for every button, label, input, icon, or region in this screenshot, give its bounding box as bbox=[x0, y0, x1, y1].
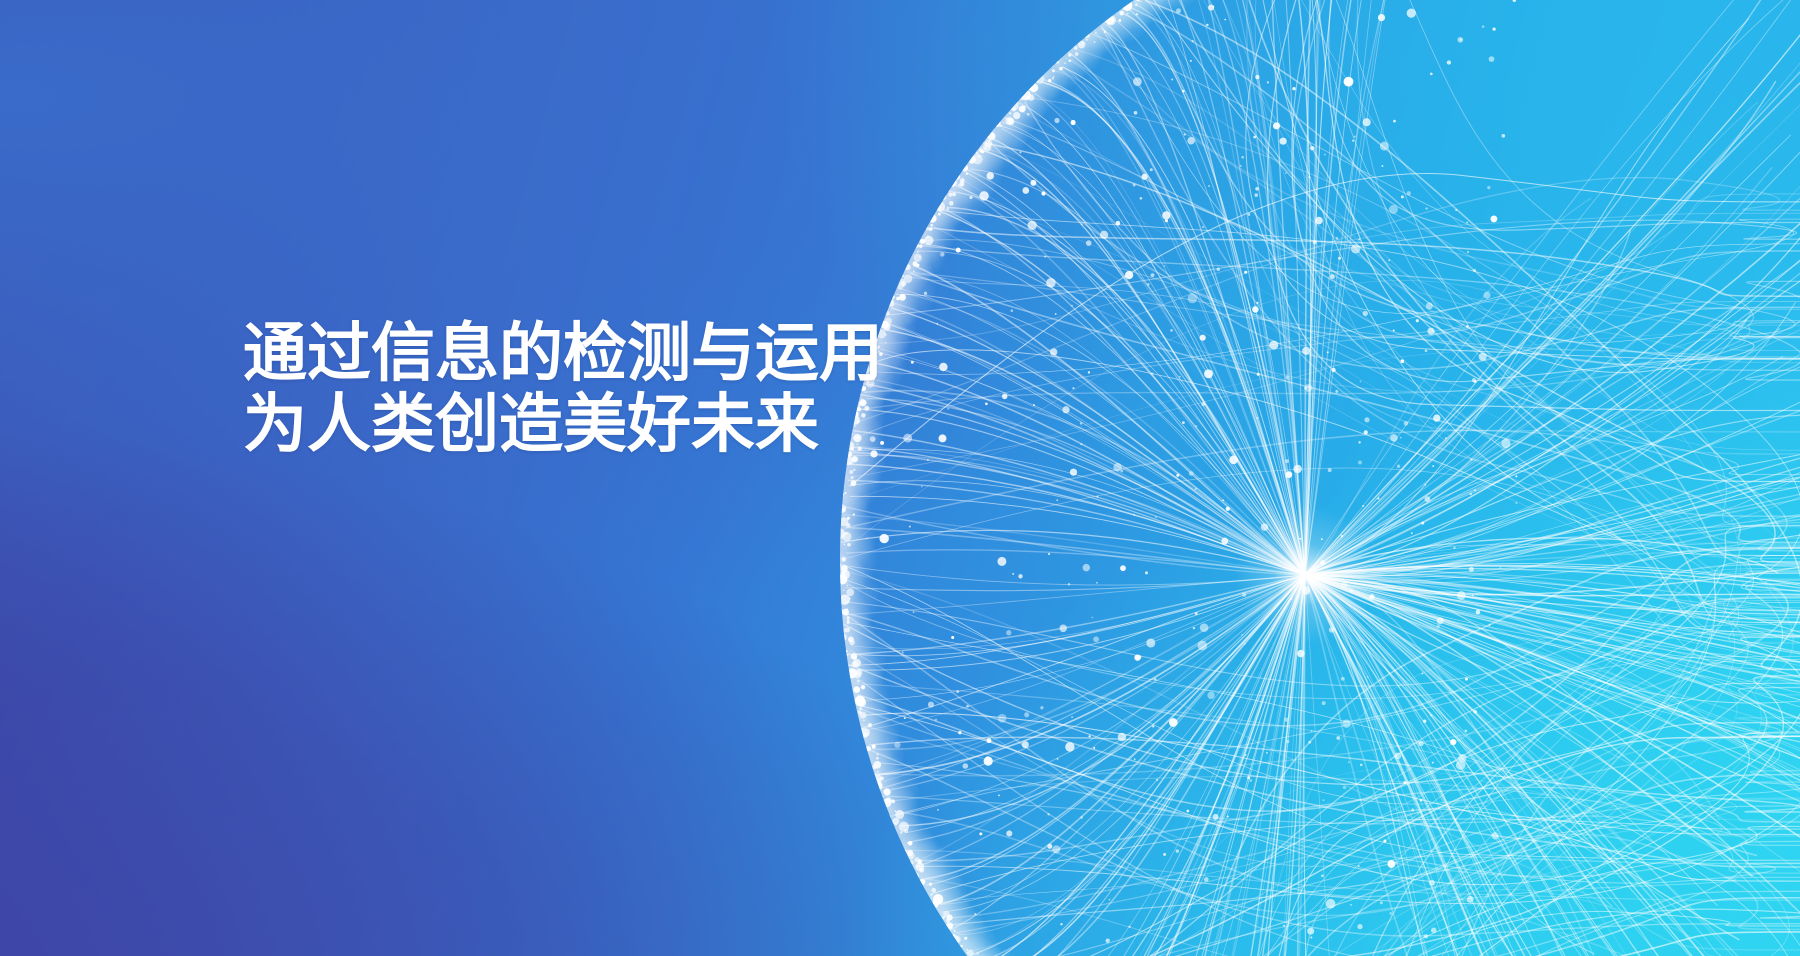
headline-line-2: 为人类创造美好未来 bbox=[243, 389, 883, 460]
background-wash-bottom-right bbox=[0, 0, 1800, 956]
headline-line-1: 通过信息的检测与运用 bbox=[243, 318, 883, 389]
hero-banner: 通过信息的检测与运用 为人类创造美好未来 bbox=[0, 0, 1800, 956]
headline: 通过信息的检测与运用 为人类创造美好未来 bbox=[243, 318, 883, 460]
